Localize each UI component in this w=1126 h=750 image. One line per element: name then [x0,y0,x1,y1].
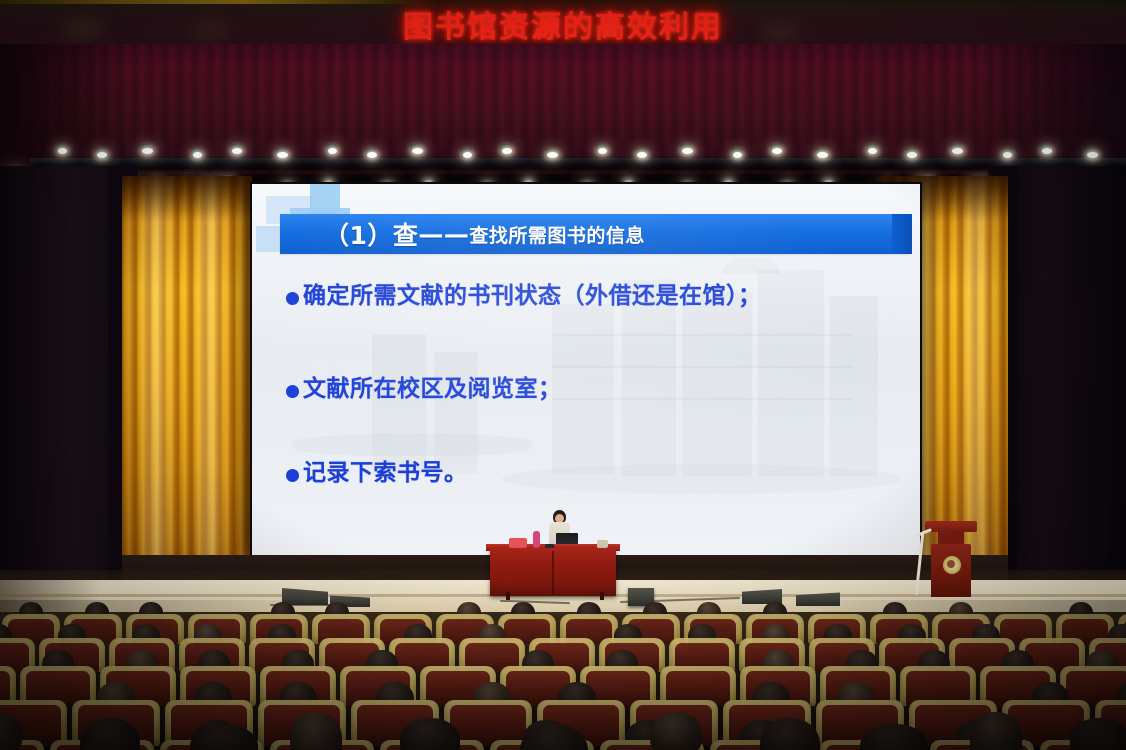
truss-lamp [463,152,472,158]
slide-title-number: （1）查 [324,216,418,252]
truss-lamp [1003,152,1012,158]
slide-bullet-text: 确定所需文献的书刊状态（外借还是在馆）； [303,284,762,309]
slide-bullet-text: 记录下索书号。 [303,461,468,486]
truss-lamp [142,148,153,154]
desk-item-cup [597,540,608,548]
truss-lamp [328,148,337,154]
truss-lamp [682,148,693,154]
truss-lamp [547,152,558,158]
podium-neck [938,532,964,544]
truss-lamp [817,152,828,158]
audience-head [1070,718,1126,750]
proscenium-wall-left [0,166,122,596]
desk-item-bottle [533,531,540,548]
bullet-dot-icon [286,385,299,398]
truss-lamp [97,152,107,158]
truss-lamp [733,152,742,158]
truss-lamp [1042,148,1052,154]
auditorium-photo: 图书馆资源的高效利用 [0,0,1126,750]
podium-top [925,521,977,532]
truss-lamp [502,148,512,154]
truss-lamp [232,148,242,154]
bullet-dot-icon [286,469,299,482]
truss-lamp [277,152,288,158]
slide-bullet-list: 确定所需文献的书刊状态（外借还是在馆）； 文献所在校区及阅览室； 记录下索书号。 [286,284,896,486]
projection-screen: （1）查——查找所需图书的信息 确定所需文献的书刊状态（外借还是在馆）； 文献所… [250,182,922,558]
truss-lamp [1087,152,1098,158]
presenter-table-seam [552,551,554,595]
slide-title: （1）查——查找所需图书的信息 [324,214,920,254]
truss-lamp [637,152,647,158]
slide-bullet-item: 文献所在校区及阅览室； [286,377,896,402]
truss-lamp [58,148,67,154]
truss-bar-upper [30,158,1126,169]
table-leg [600,592,604,600]
slide-title-subtitle: 查找所需图书的信息 [469,221,645,248]
audience-head [650,712,702,750]
led-banner-title: 图书馆资源的高效利用 [0,2,1126,46]
slide-bullet-text: 文献所在校区及阅览室； [303,377,562,402]
truss-lamp [952,148,963,154]
slide-title-dash: —— [418,220,469,249]
truss-lamp [868,148,877,154]
truss-lamp [598,148,607,154]
table-leg [506,592,510,600]
truss-lamp [772,148,782,154]
bullet-dot-icon [286,292,299,305]
truss-lamp [907,152,917,158]
truss-lamp [367,152,377,158]
proscenium-wall-right [1008,166,1126,596]
truss-lamp [412,148,423,154]
auditorium-seating [0,612,1126,750]
slide-bullet-item: 确定所需文献的书刊状态（外借还是在馆）； [286,284,896,309]
stage-curtain-left [122,176,252,584]
podium-emblem-inner [947,560,955,568]
truss-lamp [193,152,202,158]
desk-item-red-box [509,538,527,548]
slide-bullet-item: 记录下索书号。 [286,461,896,486]
presentation-slide: （1）查——查找所需图书的信息 确定所需文献的书刊状态（外借还是在馆）； 文献所… [252,184,920,556]
